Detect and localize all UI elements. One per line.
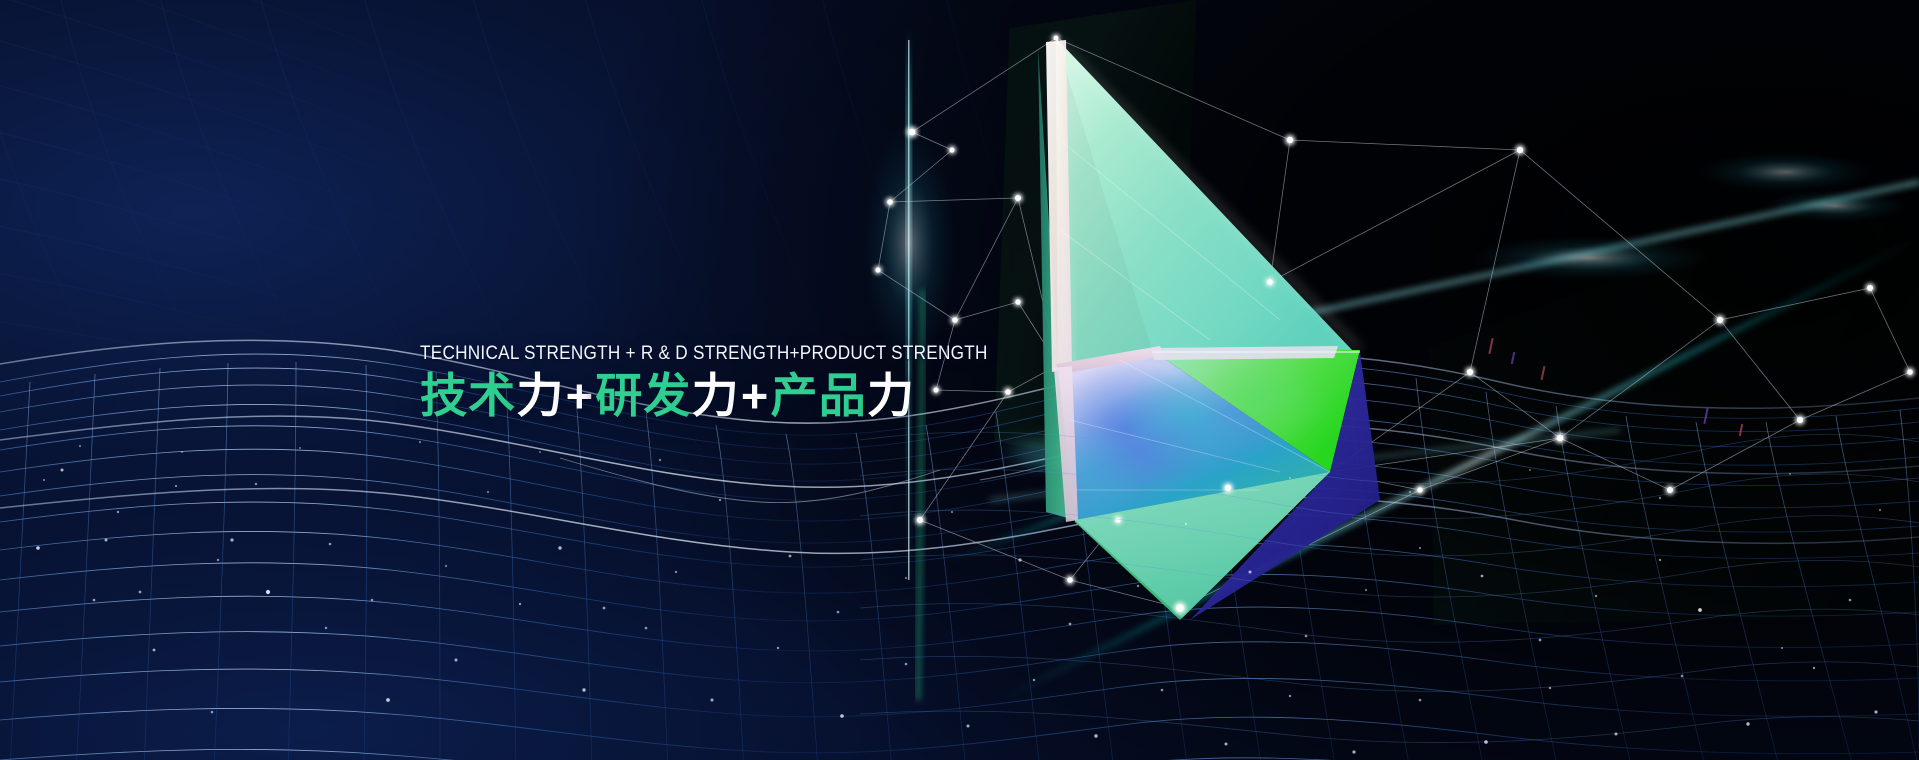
dark-architectural-slab	[1426, 195, 1919, 625]
headline-seg-7: 力	[867, 369, 915, 422]
headline-seg-6: 产品	[771, 369, 867, 422]
headline-seg-1: 力	[516, 369, 564, 422]
headline-seg-2: +	[565, 369, 596, 422]
headline-chinese: 技术力+研发力+产品力	[420, 371, 1120, 422]
headline-seg-5: +	[740, 369, 771, 422]
sky-grid-pattern	[0, 0, 1113, 547]
headline-seg-4: 力	[692, 369, 740, 422]
foreground-mesh-overlay	[860, 380, 1919, 760]
headline-block: TECHNICAL STRENGTH + R & D STRENGTH+PROD…	[420, 344, 1120, 421]
headline-seg-0: 技术	[420, 369, 516, 422]
headline-seg-3: 研发	[595, 369, 691, 422]
network-nodes	[874, 34, 1915, 614]
hero-banner: TECHNICAL STRENGTH + R & D STRENGTH+PROD…	[0, 0, 1919, 760]
headline-eyebrow: TECHNICAL STRENGTH + R & D STRENGTH+PROD…	[420, 344, 1036, 364]
